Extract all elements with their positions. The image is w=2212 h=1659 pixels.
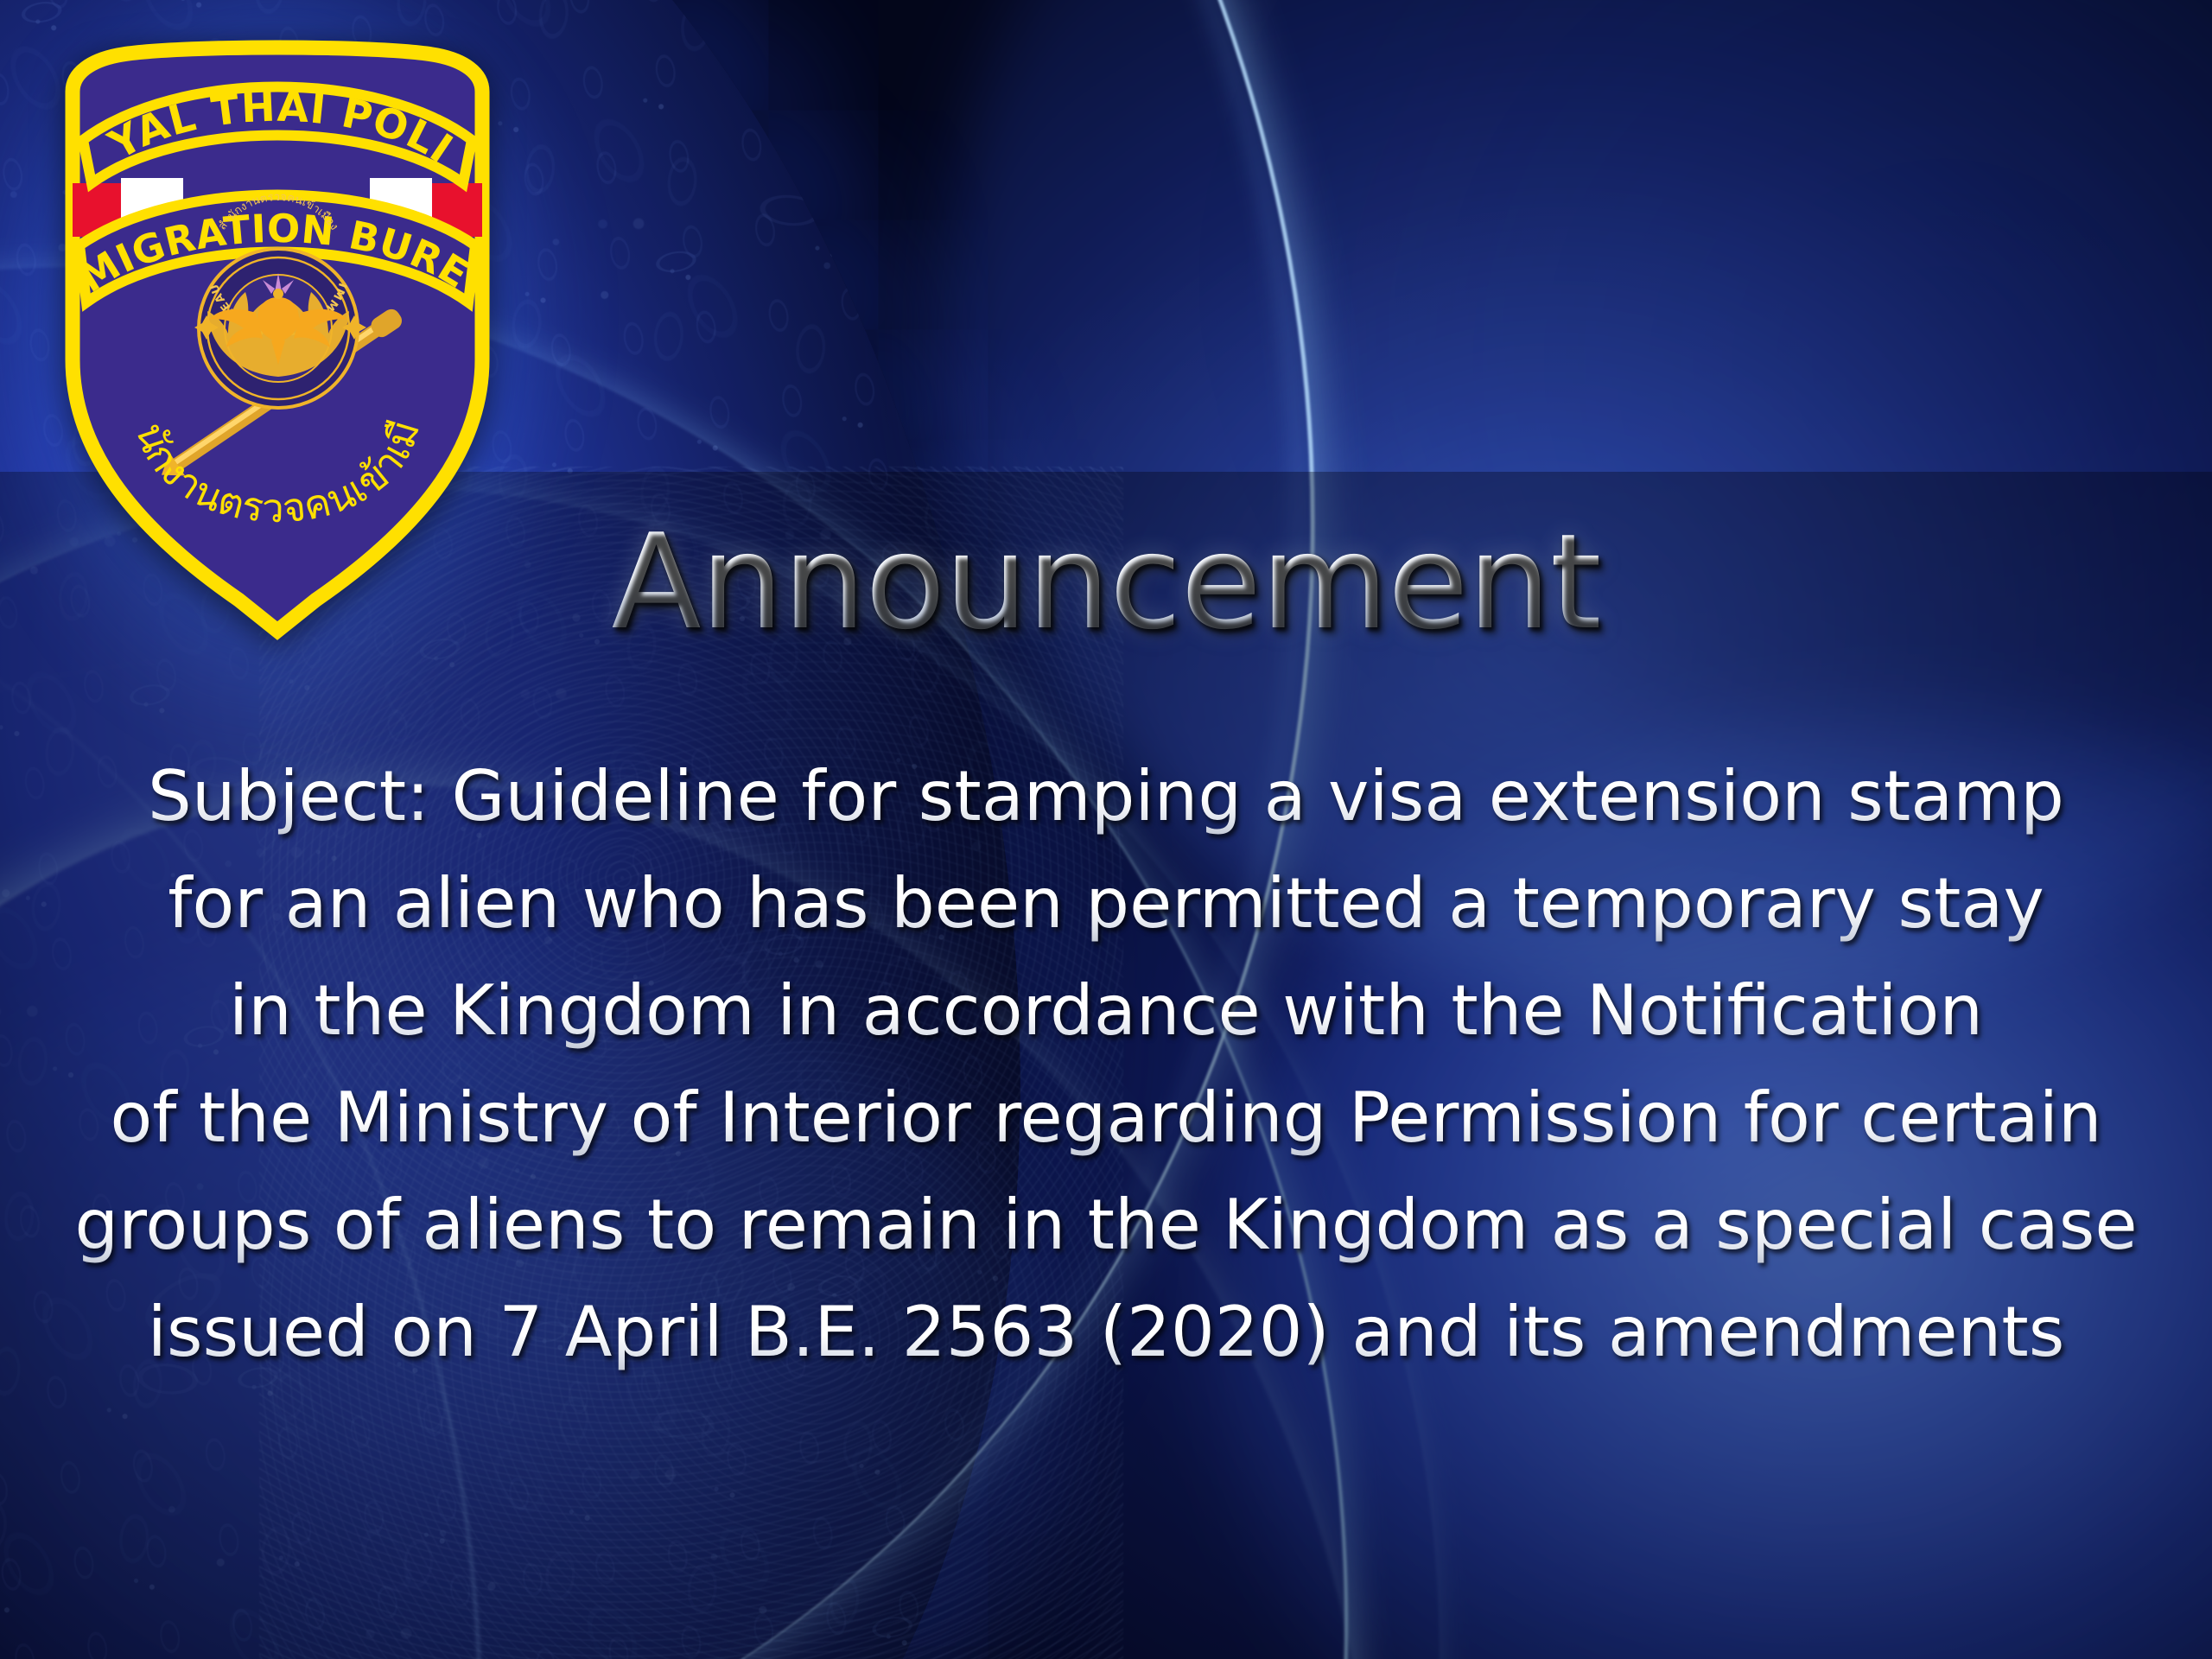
body-line: in the Kingdom in accordance with the No… [35,957,2177,1065]
body-line: Subject: Guideline for stamping a visa e… [35,743,2177,850]
body-line: groups of aliens to remain in the Kingdo… [35,1172,2177,1279]
announcement-slide: ROYAL THAI POLICE IMMIGRATION BUREAU สำน… [0,0,2212,1659]
body-line: for an alien who has been permitted a te… [35,850,2177,957]
announcement-body: Subject: Guideline for stamping a visa e… [35,743,2177,1386]
body-line: of the Ministry of Interior regarding Pe… [35,1065,2177,1172]
body-line: issued on 7 April B.E. 2563 (2020) and i… [35,1279,2177,1386]
page-title: Announcement [0,517,2212,648]
